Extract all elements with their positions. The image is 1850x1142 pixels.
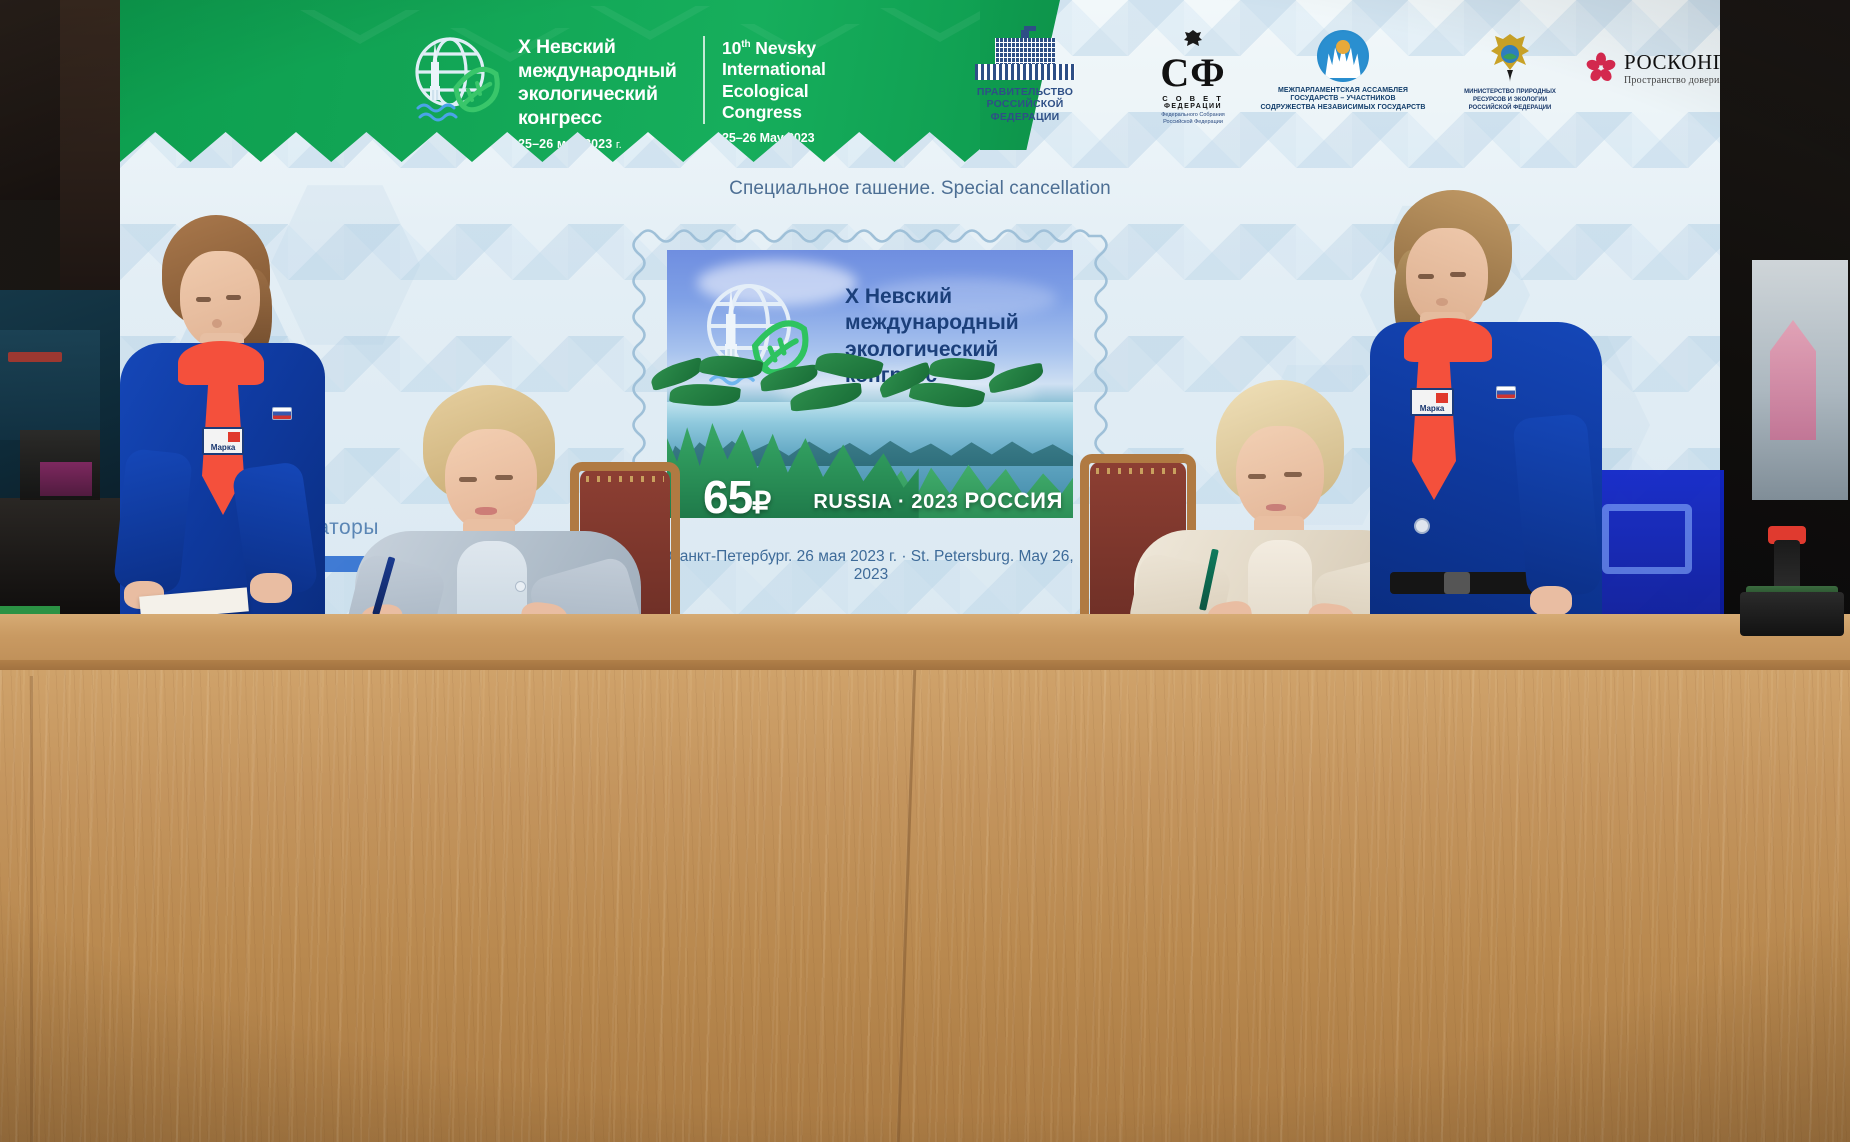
sf-monogram: СФ — [1138, 54, 1248, 92]
sf-caption-1: С О В Е Т — [1138, 94, 1248, 103]
congress-title-ru: X Невский международный экологический ко… — [518, 36, 718, 153]
roscongress-flower-icon — [1586, 52, 1616, 82]
roscongress-wordmark: РОСКОНГРЕСС — [1624, 50, 1720, 75]
nevsky-congress-logo-icon — [402, 28, 504, 132]
cis-hands-icon — [1317, 30, 1369, 82]
device-base — [1740, 592, 1844, 636]
logo-caption: МЕЖПАРЛАМЕНТСКАЯ АССАМБЛЕЯ ГОСУДАРСТВ – … — [1258, 87, 1428, 112]
logo-caption: МИНИСТЕРСТВО ПРИРОДНЫХ РЕСУРСОВ И ЭКОЛОГ… — [1430, 89, 1590, 112]
table-panel-seam-left — [30, 676, 33, 1142]
stamp-title-line-2: международный — [845, 310, 1057, 336]
roscongress-tagline: Пространство доверия — [1624, 75, 1720, 86]
suit-button — [1414, 518, 1430, 534]
stamp-face-value: 65₽ — [703, 470, 770, 518]
title-ru-line-3: экологический — [518, 83, 718, 107]
belt-buckle — [1444, 572, 1470, 594]
logo-government-of-russia: ПРАВИТЕЛЬСТВО РОССИЙСКОЙ ФЕДЕРАЦИИ — [960, 30, 1090, 123]
decorative-plants — [640, 352, 1060, 414]
stamp-city-date-caption: Санкт-Петербург. 26 мая 2023 г. · St. Pe… — [649, 548, 1093, 584]
signing-table-front — [0, 670, 1850, 1142]
stamp-title-line-1: X Невский — [845, 284, 1057, 310]
staff-badge: Марка — [1410, 388, 1454, 416]
badge-label: Марка — [204, 443, 242, 452]
title-ru-line-4: конгресс — [518, 107, 718, 131]
logo-ministry-natural-resources: МИНИСТЕРСТВО ПРИРОДНЫХ РЕСУРСОВ И ЭКОЛОГ… — [1430, 30, 1590, 112]
hand-right — [1530, 586, 1572, 616]
wood-grain — [0, 670, 1850, 1142]
logo-roscongress: РОСКОНГРЕСС Пространство доверия — [1586, 50, 1720, 86]
side-display-red-bar — [8, 352, 62, 362]
government-building-icon — [969, 30, 1081, 82]
hand-right — [250, 573, 292, 603]
partner-logos-row: ПРАВИТЕЛЬСТВО РОССИЙСКОЙ ФЕДЕРАЦИИ СФ С … — [830, 28, 1710, 140]
side-display-left-inner — [0, 330, 100, 440]
title-ru-line-1: X Невский — [518, 36, 718, 60]
logo-federation-council: СФ С О В Е Т ФЕДЕРАЦИИ Федерального Собр… — [1138, 28, 1248, 126]
congress-date-ru: 25–26 мая 2023 г. — [518, 137, 718, 152]
title-divider — [703, 36, 705, 124]
logo-caption: ПРАВИТЕЛЬСТВО РОССИЙСКОЙ ФЕДЕРАЦИИ — [960, 86, 1090, 123]
person-assistant-left: Марка — [100, 215, 330, 635]
stamp-country-line: RUSSIA · 2023 РОССИЯ — [813, 488, 1063, 514]
staff-badge: Марка — [202, 427, 244, 455]
russian-flag-pin-icon — [1496, 386, 1516, 399]
special-cancellation-caption: Специальное гашение. Special cancellatio… — [660, 178, 1180, 200]
sf-caption-2: ФЕДЕРАЦИИ — [1138, 103, 1248, 110]
arm-right — [1512, 413, 1601, 599]
sf-caption-3: Федерального Собрания Российской Федерац… — [1138, 112, 1248, 126]
jacket-button — [515, 581, 526, 592]
badge-label: Марка — [1412, 404, 1452, 413]
person-assistant-right: Марка — [1370, 190, 1620, 630]
device-handle[interactable] — [1774, 540, 1800, 590]
title-ru-line-2: международный — [518, 60, 718, 84]
side-display-magenta — [40, 462, 92, 496]
photo-scene: X Невский международный экологический ко… — [0, 0, 1850, 1142]
logo-cis-assembly: МЕЖПАРЛАМЕНТСКАЯ АССАМБЛЕЯ ГОСУДАРСТВ – … — [1258, 30, 1428, 112]
russian-coat-of-arms-icon — [1485, 30, 1535, 84]
cancellation-stamp-device[interactable] — [1740, 524, 1844, 636]
russian-flag-pin-icon — [272, 407, 292, 420]
person-signatory-left — [345, 385, 645, 635]
